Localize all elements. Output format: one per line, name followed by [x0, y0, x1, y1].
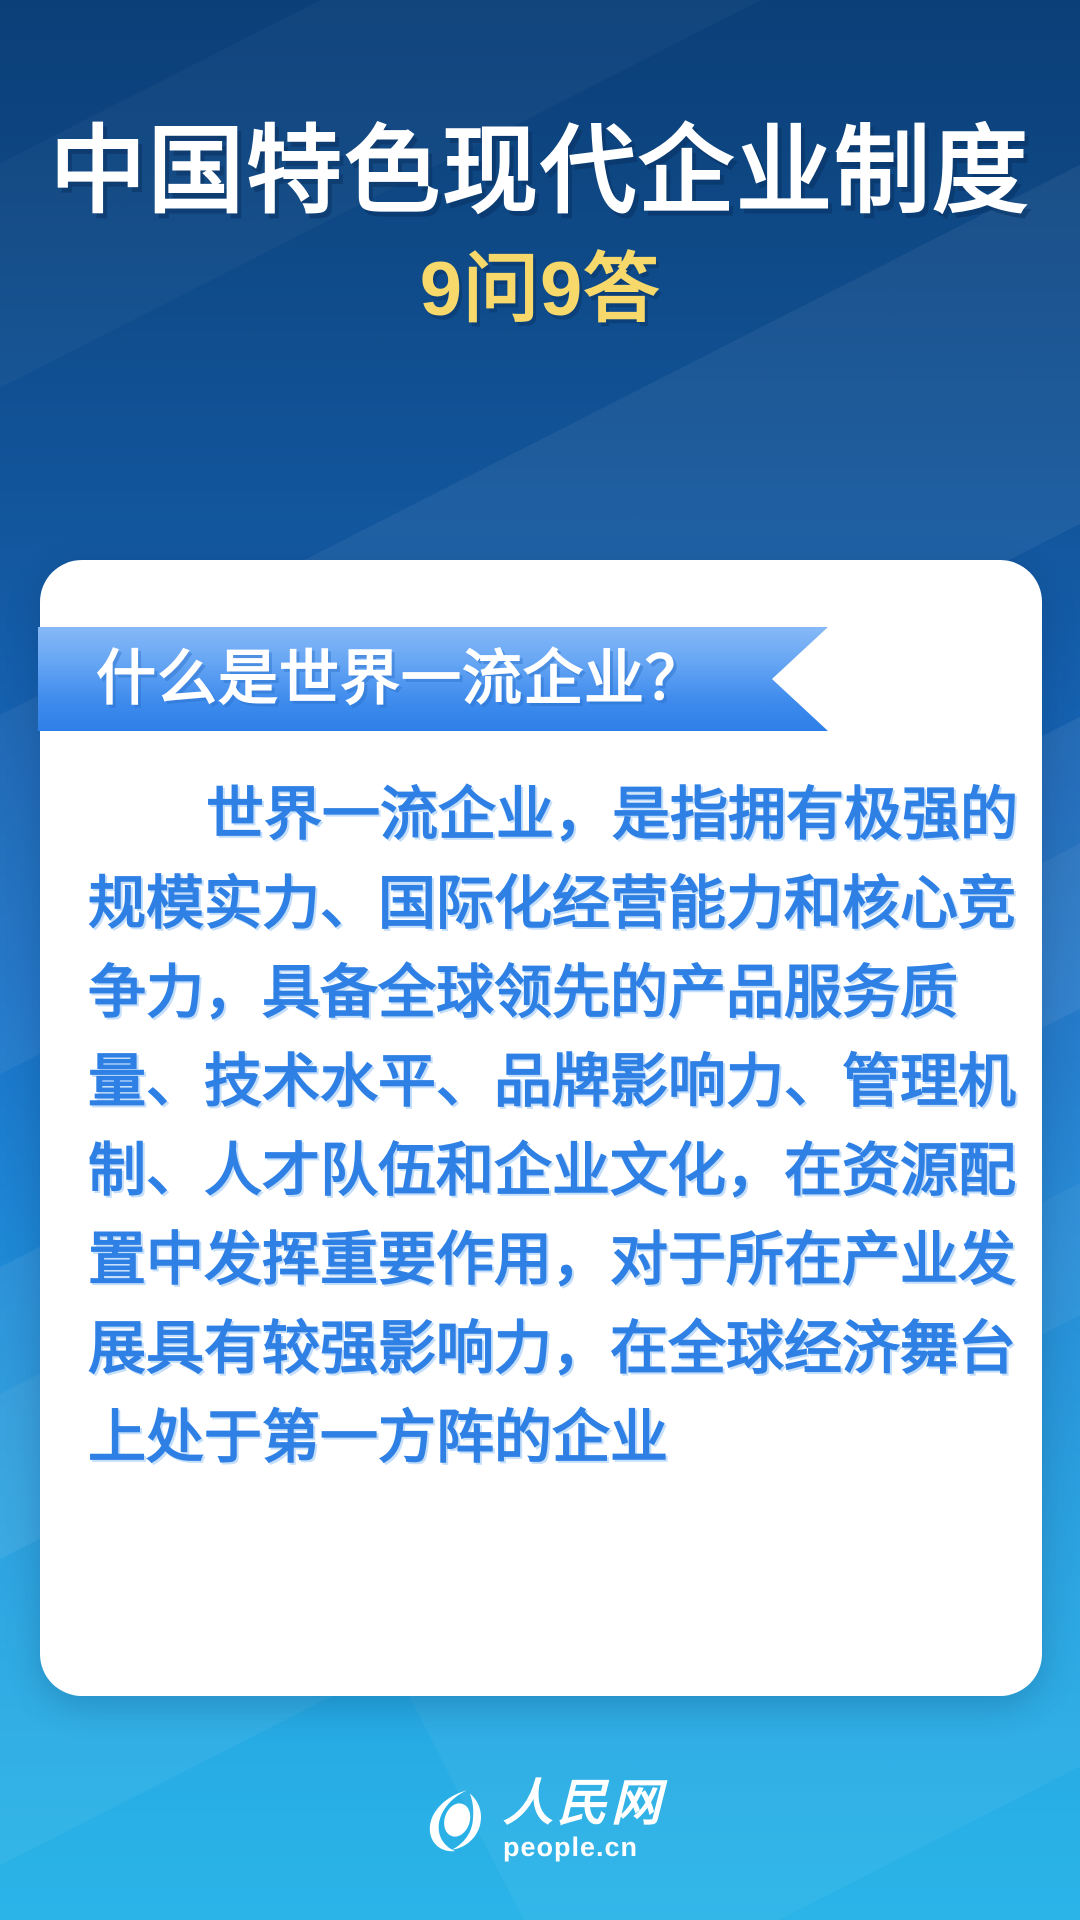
page-subtitle: 9问9答 [0, 252, 1080, 328]
page-title: 中国特色现代企业制度 [0, 118, 1080, 226]
poster-header: 中国特色现代企业制度 9问9答 [0, 118, 1080, 328]
answer-line: 置中发挥重要作用，对于所在产业发 [88, 1215, 1002, 1304]
question-text: 什么是世界一流企业？ [96, 649, 706, 709]
site-logo: 人民网 people.cn [0, 1778, 1080, 1861]
question-banner: 什么是世界一流企业？ [38, 627, 828, 731]
logo-chinese-name: 人民网 [503, 1778, 665, 1828]
people-cn-globe-icon [415, 1783, 489, 1857]
answer-line: 展具有较强影响力，在全球经济舞台 [88, 1304, 1002, 1393]
qa-card: 什么是世界一流企业？ 世界一流企业，是指拥有极强的 规模实力、国际化经营能力和核… [40, 560, 1042, 1696]
poster-root: 中国特色现代企业制度 9问9答 什么是世界一流企业？ 世界一流企业，是指拥有极强… [0, 0, 1080, 1920]
answer-line: 上处于第一方阵的企业 [88, 1393, 1002, 1482]
logo-domain: people.cn [503, 1834, 638, 1861]
answer-body: 世界一流企业，是指拥有极强的 规模实力、国际化经营能力和核心竞 争力，具备全球领… [88, 770, 1002, 1482]
answer-line: 世界一流企业，是指拥有极强的 [88, 770, 1002, 859]
logo-wordmark: 人民网 people.cn [503, 1778, 665, 1861]
answer-line: 制、人才队伍和企业文化，在资源配 [88, 1126, 1002, 1215]
answer-line: 规模实力、国际化经营能力和核心竞 [88, 859, 1002, 948]
answer-line: 量、技术水平、品牌影响力、管理机 [88, 1037, 1002, 1126]
answer-line: 争力，具备全球领先的产品服务质 [88, 948, 1002, 1037]
